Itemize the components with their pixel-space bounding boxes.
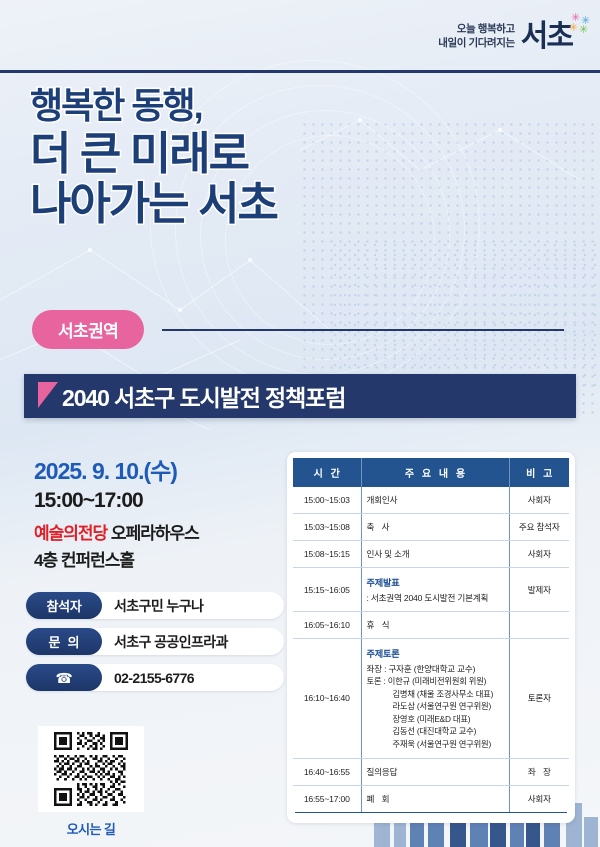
panelist-list: 토론 : 이한규 (미래비전위원회 위원) 김병채 (채울 조경사무소 대표) … [367,675,504,751]
schedule-table-head: 시 간 주 요 내 용 비 고 [293,458,569,487]
panelist-name: 이한규 (미래비전위원회 위원) [388,676,487,686]
logo-slogan-line1: 오늘 행복하고 [438,22,515,36]
row-content: 질의응답 [361,758,509,785]
seocho-logo: 오늘 행복하고 내일이 기다려지는 서초 ✳ ✳ ✳ ✳ [438,22,572,52]
event-date: 2025. 9. 10.(수) [34,452,274,486]
star-icon-orange: ✳ [569,23,576,34]
panelist-row: 라도삼 (서울연구원 연구위원) [367,700,504,713]
panelist-row: 김동선 (대진대학교 교수) [367,725,504,738]
table-bottom-rule [295,812,567,813]
event-time: 15:00~17:00 [34,489,274,513]
logo-slogan: 오늘 행복하고 내일이 기다려지는 [438,22,515,52]
table-row: 16:40~16:55 질의응답 좌 장 [293,758,569,785]
table-row: 15:03~15:08 축 사 주요 참석자 [293,514,569,541]
table-row: 16:05~16:10 휴 식 [293,612,569,639]
event-info-block: 2025. 9. 10.(수) 15:00~17:00 예술의전당 오페라하우스… [34,452,274,571]
row-time: 15:00~15:03 [293,487,361,514]
discussion-chair: 좌장 : 구자훈 (한양대학교 교수) [367,663,504,675]
qr-block: 오시는 길 [38,726,144,838]
forum-title: 2040 서초구 도시발전 정책포럼 [62,379,345,413]
logo-wordmark-text: 서초 [521,20,572,53]
row-content: 축 사 [361,514,509,541]
contact-value-phone: 02-2155-6776 [102,670,194,686]
event-venue-detail: 4층 컨퍼런스홀 [34,546,274,571]
star-icon-green: ✳ [579,25,586,36]
row-content: 인사 및 소개 [361,541,509,568]
row-time: 15:08~15:15 [293,541,361,568]
row-note [509,612,569,639]
qr-caption: 오시는 길 [38,819,144,838]
table-row: 15:08~15:15 인사 및 소개 사회자 [293,541,569,568]
contact-row-attendee: 참석자 서초구민 누구나 [26,592,284,619]
panelist-row: 토론 : 이한규 (미래비전위원회 위원) [367,675,504,688]
forum-title-bar: 2040 서초구 도시발전 정책포럼 [24,374,576,418]
row-note: 발제자 [509,568,569,612]
poster-header: 오늘 행복하고 내일이 기다려지는 서초 ✳ ✳ ✳ ✳ [0,0,600,72]
qr-card[interactable] [38,726,144,812]
header-time: 시 간 [293,458,361,487]
header-content: 주 요 내 용 [361,458,509,487]
row-note: 토론자 [509,639,569,759]
contact-tag-inquiry: 문의 [26,628,102,655]
table-row-discussion: 16:10~16:40 주제토론 좌장 : 구자훈 (한양대학교 교수) 토론 … [293,639,569,759]
event-venue: 예술의전당 오페라하우스 [34,519,274,544]
schedule-table-card: 시 간 주 요 내 용 비 고 15:00~15:03 개회인사 사회자 15:… [287,452,575,823]
header-note: 비 고 [509,458,569,487]
presentation-desc: : 서초권역 2040 도시발전 기본계획 [367,592,504,604]
row-time: 15:03~15:08 [293,514,361,541]
row-content: 폐 회 [361,785,509,812]
panelist-row: 김병채 (채울 조경사무소 대표) [367,688,504,701]
row-content: 주제발표 : 서초권역 2040 도시발전 기본계획 [361,568,509,612]
qr-code-icon[interactable] [54,732,128,806]
contact-row-inquiry: 문의 서초구 공공인프라과 [26,628,284,655]
row-note: 좌 장 [509,758,569,785]
row-content: 휴 식 [361,612,509,639]
region-badge-row: 서초권역 [32,310,572,349]
poster-root: 오늘 행복하고 내일이 기다려지는 서초 ✳ ✳ ✳ ✳ 행복한 동행, 더 큰… [0,0,600,847]
headline-block: 행복한 동행, 더 큰 미래로 나아가는 서초 [30,88,450,227]
logo-wordmark: 서초 ✳ ✳ ✳ ✳ [521,22,572,52]
contact-value-inquiry: 서초구 공공인프라과 [102,632,228,652]
headline-line-3: 나아가는 서초 [30,181,450,227]
panelist-row: 주재욱 (서울연구원 연구위원) [367,738,504,751]
table-row: 16:55~17:00 폐 회 사회자 [293,785,569,812]
table-row: 15:00~15:03 개회인사 사회자 [293,487,569,514]
venue-rest: 오페라하우스 [107,524,199,543]
contact-value-attendee: 서초구민 누구나 [102,596,203,616]
row-note: 사회자 [509,785,569,812]
contact-row-phone: ☎ 02-2155-6776 [26,664,284,691]
row-note: 사회자 [509,541,569,568]
presentation-title: 주제발표 [367,575,504,589]
venue-highlight: 예술의전당 [34,524,107,543]
headline-line-1: 행복한 동행, [30,88,450,125]
triangle-marker-icon [38,382,58,408]
contact-info-list: 참석자 서초구민 누구나 문의 서초구 공공인프라과 ☎ 02-2155-677… [26,592,284,700]
row-time: 16:55~17:00 [293,785,361,812]
header-divider [0,70,600,73]
row-content: 개회인사 [361,487,509,514]
table-row-presentation: 15:15~16:05 주제발표 : 서초권역 2040 도시발전 기본계획 발… [293,568,569,612]
row-time: 16:10~16:40 [293,639,361,759]
schedule-table: 시 간 주 요 내 용 비 고 15:00~15:03 개회인사 사회자 15:… [293,458,569,812]
logo-star-icons: ✳ ✳ ✳ ✳ [568,13,592,35]
panelist-row: 장영호 (미래E&D 대표) [367,713,504,726]
logo-slogan-line2: 내일이 기다려지는 [438,36,515,50]
badge-divider-line [162,329,564,331]
phone-icon: ☎ [26,664,102,691]
schedule-header-row: 시 간 주 요 내 용 비 고 [293,458,569,487]
row-content: 주제토론 좌장 : 구자훈 (한양대학교 교수) 토론 : 이한규 (미래비전위… [361,639,509,759]
row-note: 주요 참석자 [509,514,569,541]
row-note: 사회자 [509,487,569,514]
panel-label: 토론 : [367,676,388,686]
schedule-table-body: 15:00~15:03 개회인사 사회자 15:03~15:08 축 사 주요 … [293,487,569,812]
discussion-title: 주제토론 [367,646,504,660]
row-time: 15:15~16:05 [293,568,361,612]
headline-line-2: 더 큰 미래로 [30,131,450,177]
row-time: 16:40~16:55 [293,758,361,785]
row-time: 16:05~16:10 [293,612,361,639]
region-badge: 서초권역 [32,310,144,349]
contact-tag-attendee: 참석자 [26,592,102,619]
